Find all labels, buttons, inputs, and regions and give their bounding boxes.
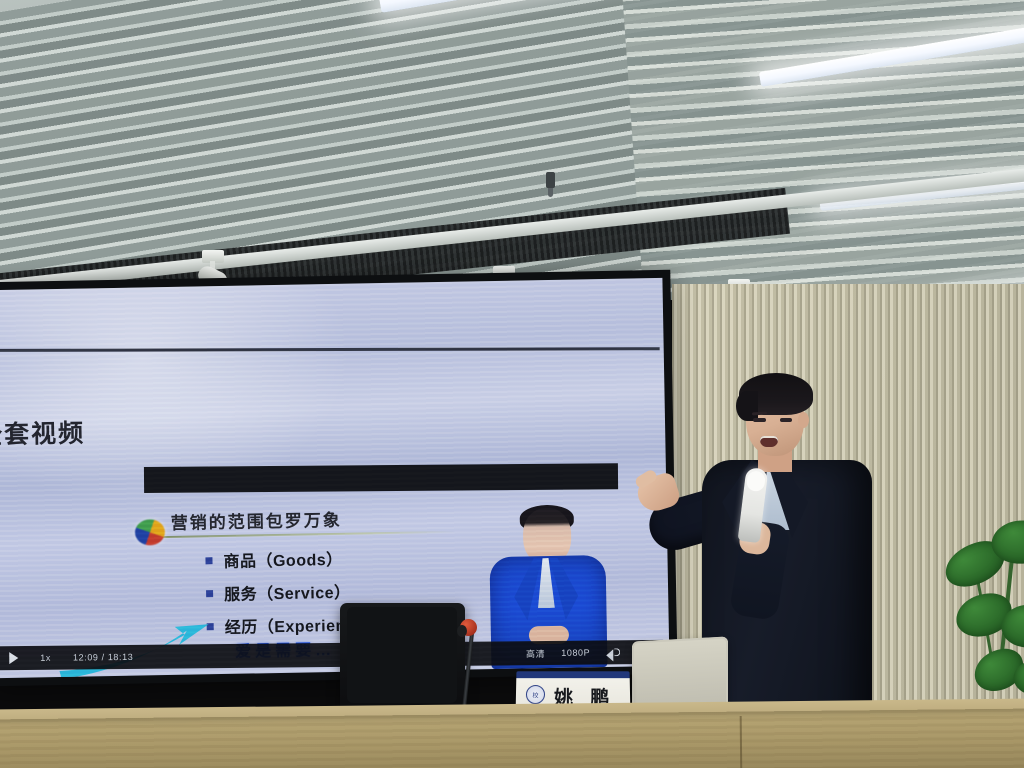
lecture-hall-scene: 2融) 录制全套视频 营销的范围包罗万象 商品（Goods） 服务（Servic… xyxy=(0,0,1024,768)
presenter-monitor-panel xyxy=(347,607,457,703)
volume-icon[interactable] xyxy=(606,646,620,658)
speaker-mouth xyxy=(760,436,778,447)
slide-title-rule xyxy=(0,347,660,352)
bullet-text: 服务（Service） xyxy=(224,579,351,605)
gooseneck-microphone-icon xyxy=(452,615,488,711)
university-seal-icon: 校 xyxy=(526,685,545,704)
quality-label[interactable]: 高清 xyxy=(526,646,545,659)
bullet-marker-icon xyxy=(206,590,213,597)
list-item: 服务（Service） xyxy=(206,578,390,605)
speaker-eye-left xyxy=(753,418,766,422)
bullet-marker-icon xyxy=(205,557,212,564)
resolution-label[interactable]: 1080P xyxy=(561,648,590,658)
playback-time-label: 12:09 / 18:13 xyxy=(73,652,133,663)
playback-speed-label[interactable]: 1x xyxy=(40,653,51,663)
speaker-ear xyxy=(798,412,809,428)
speaker-hair xyxy=(739,373,813,415)
seal-text: 校 xyxy=(532,690,538,699)
slide-black-banner xyxy=(144,463,618,493)
speaker-eye-right xyxy=(780,418,792,422)
play-icon[interactable] xyxy=(9,652,18,664)
list-item: 商品（Goods） xyxy=(205,545,389,572)
slide-section-heading: 营销的范围包罗万象 xyxy=(171,506,342,534)
projection-screen-bezel: 2融) 录制全套视频 营销的范围包罗万象 商品（Goods） 服务（Servic… xyxy=(0,270,678,687)
ceiling-sprinkler-icon xyxy=(546,172,555,188)
desk-front-panel xyxy=(0,709,1024,768)
potted-green-plant xyxy=(930,510,1024,718)
bullet-text: 商品（Goods） xyxy=(223,546,343,572)
slide-subtitle: 录制全套视频 xyxy=(0,414,85,453)
four-color-sphere-icon xyxy=(135,519,165,546)
projection-screen[interactable]: 2融) 录制全套视频 营销的范围包罗万象 商品（Goods） 服务（Servic… xyxy=(0,278,669,678)
